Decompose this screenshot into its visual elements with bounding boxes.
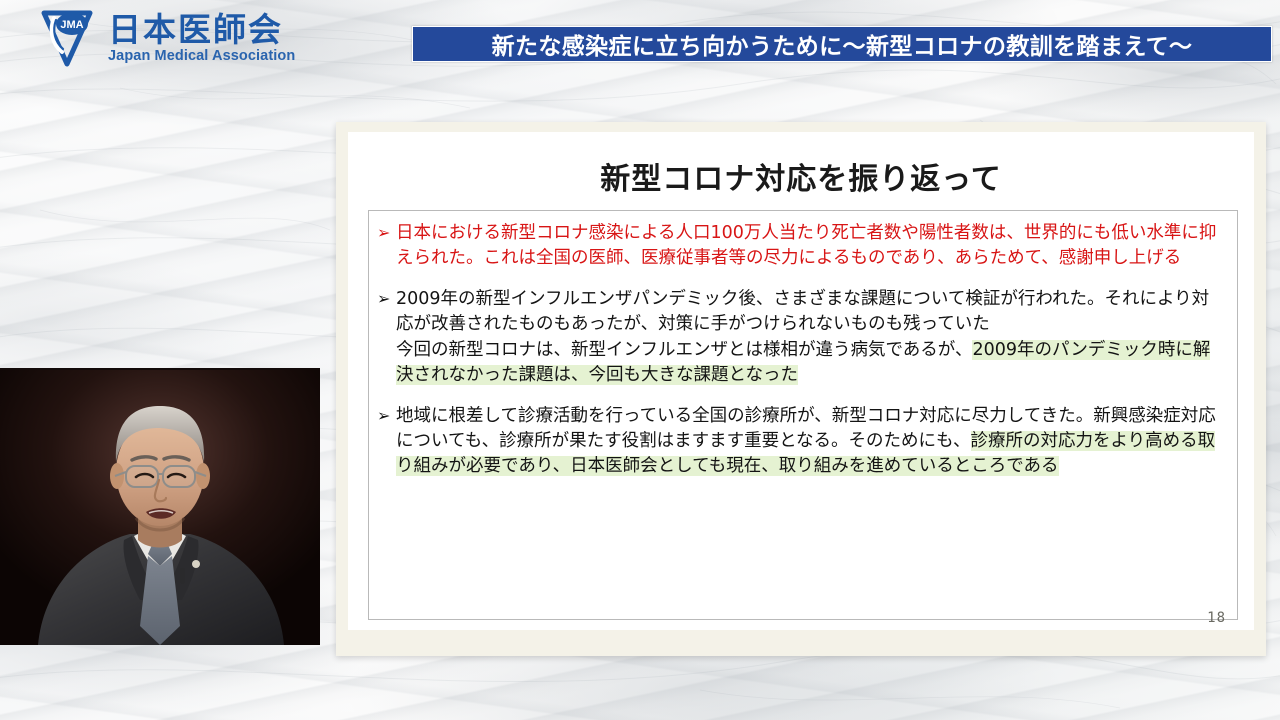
slide-bullet: ➢日本における新型コロナ感染による人口100万人当たり死亡者数や陽性者数は、世界… [377,221,1225,271]
svg-text:JMA: JMA [60,19,83,31]
speaker-video-inset[interactable] [0,368,320,645]
video-top-edge [0,368,320,370]
slide-bullet: ➢2009年の新型インフルエンザパンデミック後、さまざまな課題について検証が行わ… [377,287,1225,388]
jma-logo: JMA 日本医師会 Japan Medical Association [36,8,295,68]
program-title-banner: 新たな感染症に立ち向かうために～新型コロナの教訓を踏まえて～ [412,26,1272,62]
bullet-arrow-icon: ➢ [377,404,396,428]
slide-inner-surface: 新型コロナ対応を振り返って ➢日本における新型コロナ感染による人口100万人当た… [348,132,1254,630]
slide-content-box: ➢日本における新型コロナ感染による人口100万人当たり死亡者数や陽性者数は、世界… [368,210,1238,620]
logo-name-jp: 日本医師会 [108,13,295,46]
speaker-figure [0,368,320,645]
jma-shield-icon: JMA [36,8,98,68]
plain-text: 2009年の新型インフルエンザパンデミック後、さまざまな課題について検証が行われ… [396,289,1209,334]
bullet-arrow-icon: ➢ [377,287,396,311]
bullet-text: 日本における新型コロナ感染による人口100万人当たり死亡者数や陽性者数は、世界的… [396,221,1225,271]
plain-text: 今回の新型コロナは、新型インフルエンザとは様相が違う病気であるが、 [396,340,972,360]
slide-page-number: 18 [1207,610,1226,626]
logo-name-en: Japan Medical Association [108,49,295,64]
bullet-text: 2009年の新型インフルエンザパンデミック後、さまざまな課題について検証が行われ… [396,287,1225,388]
program-title-text: 新たな感染症に立ち向かうために～新型コロナの教訓を踏まえて～ [492,27,1193,61]
bullet-paragraph: 今回の新型コロナは、新型インフルエンザとは様相が違う病気であるが、2009年のパ… [396,338,1225,388]
bullet-text: 地域に根差して診療活動を行っている全国の診療所が、新型コロナ対応に尽力してきた。… [396,404,1225,479]
slide-panel: 新型コロナ対応を振り返って ➢日本における新型コロナ感染による人口100万人当た… [336,122,1266,656]
bullet-paragraph: 日本における新型コロナ感染による人口100万人当たり死亡者数や陽性者数は、世界的… [396,221,1225,271]
bullet-paragraph: 地域に根差して診療活動を行っている全国の診療所が、新型コロナ対応に尽力してきた。… [396,404,1225,479]
slide-title: 新型コロナ対応を振り返って [348,154,1254,198]
bullet-paragraph: 2009年の新型インフルエンザパンデミック後、さまざまな課題について検証が行われ… [396,287,1225,337]
slide-bullet: ➢地域に根差して診療活動を行っている全国の診療所が、新型コロナ対応に尽力してきた… [377,404,1225,479]
presentation-stream: JMA 日本医師会 Japan Medical Association 新たな感… [0,0,1280,720]
plain-text: 日本における新型コロナ感染による人口100万人当たり死亡者数や陽性者数は、世界的… [396,223,1216,268]
bullet-arrow-icon: ➢ [377,221,396,245]
